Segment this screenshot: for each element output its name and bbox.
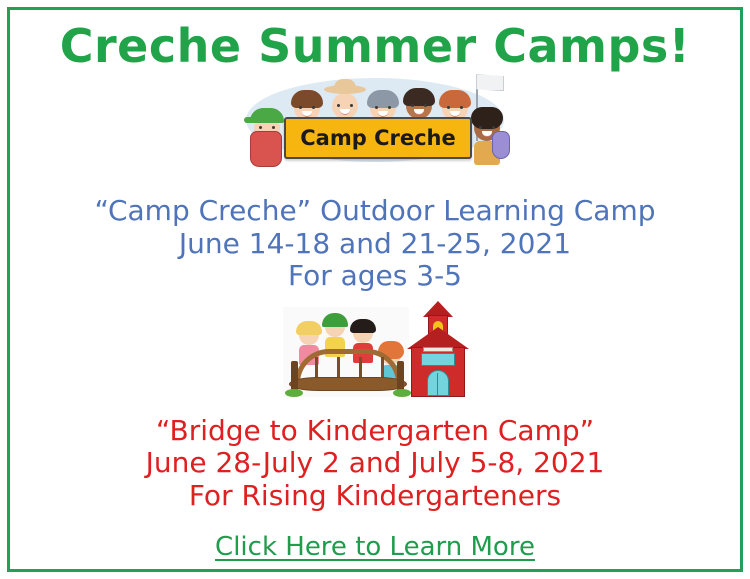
camp-creche-details: “Camp Creche” Outdoor Learning Camp June… — [94, 195, 655, 292]
school-window — [421, 353, 455, 366]
camp-creche-dates: June 14-18 and 21-25, 2021 — [94, 228, 655, 260]
flyer-content: Creche Summer Camps! — [12, 12, 738, 567]
bridge-to-kindergarten-illustration — [275, 305, 475, 401]
camp-creche-name: “Camp Creche” Outdoor Learning Camp — [94, 195, 655, 227]
school-nameplate — [423, 347, 453, 352]
backpack-icon — [492, 131, 510, 159]
bridge-camp-ages: For Rising Kindergarteners — [146, 480, 605, 512]
bridge-railing — [359, 357, 362, 379]
camp-creche-sign-label: Camp Creche — [300, 126, 455, 150]
school-door — [427, 370, 449, 396]
bridge-camp-details: “Bridge to Kindergarten Camp” June 28-Ju… — [146, 415, 605, 512]
camp-creche-illustration: Camp Creche — [240, 74, 510, 169]
bridge-railing — [381, 357, 384, 379]
bridge-post — [291, 361, 298, 391]
bridge-railing — [337, 357, 340, 379]
camp-creche-ages: For ages 3-5 — [94, 260, 655, 292]
bridge-camp-dates: June 28-July 2 and July 5-8, 2021 — [146, 447, 605, 479]
schoolhouse-icon — [407, 309, 469, 397]
school-roof — [407, 327, 469, 349]
bridge-camp-name: “Bridge to Kindergarten Camp” — [146, 415, 605, 447]
bridge-deck — [289, 377, 407, 391]
summer-camps-flyer: Creche Summer Camps! — [0, 0, 750, 579]
bridge-railing — [315, 357, 318, 379]
flag-icon — [476, 74, 504, 91]
grass-tuft-icon — [285, 389, 303, 397]
bridge-post — [397, 361, 404, 391]
camp-creche-sign: Camp Creche — [284, 117, 472, 159]
learn-more-link[interactable]: Click Here to Learn More — [215, 532, 535, 562]
backpack-icon — [250, 131, 282, 167]
page-title: Creche Summer Camps! — [60, 22, 691, 70]
